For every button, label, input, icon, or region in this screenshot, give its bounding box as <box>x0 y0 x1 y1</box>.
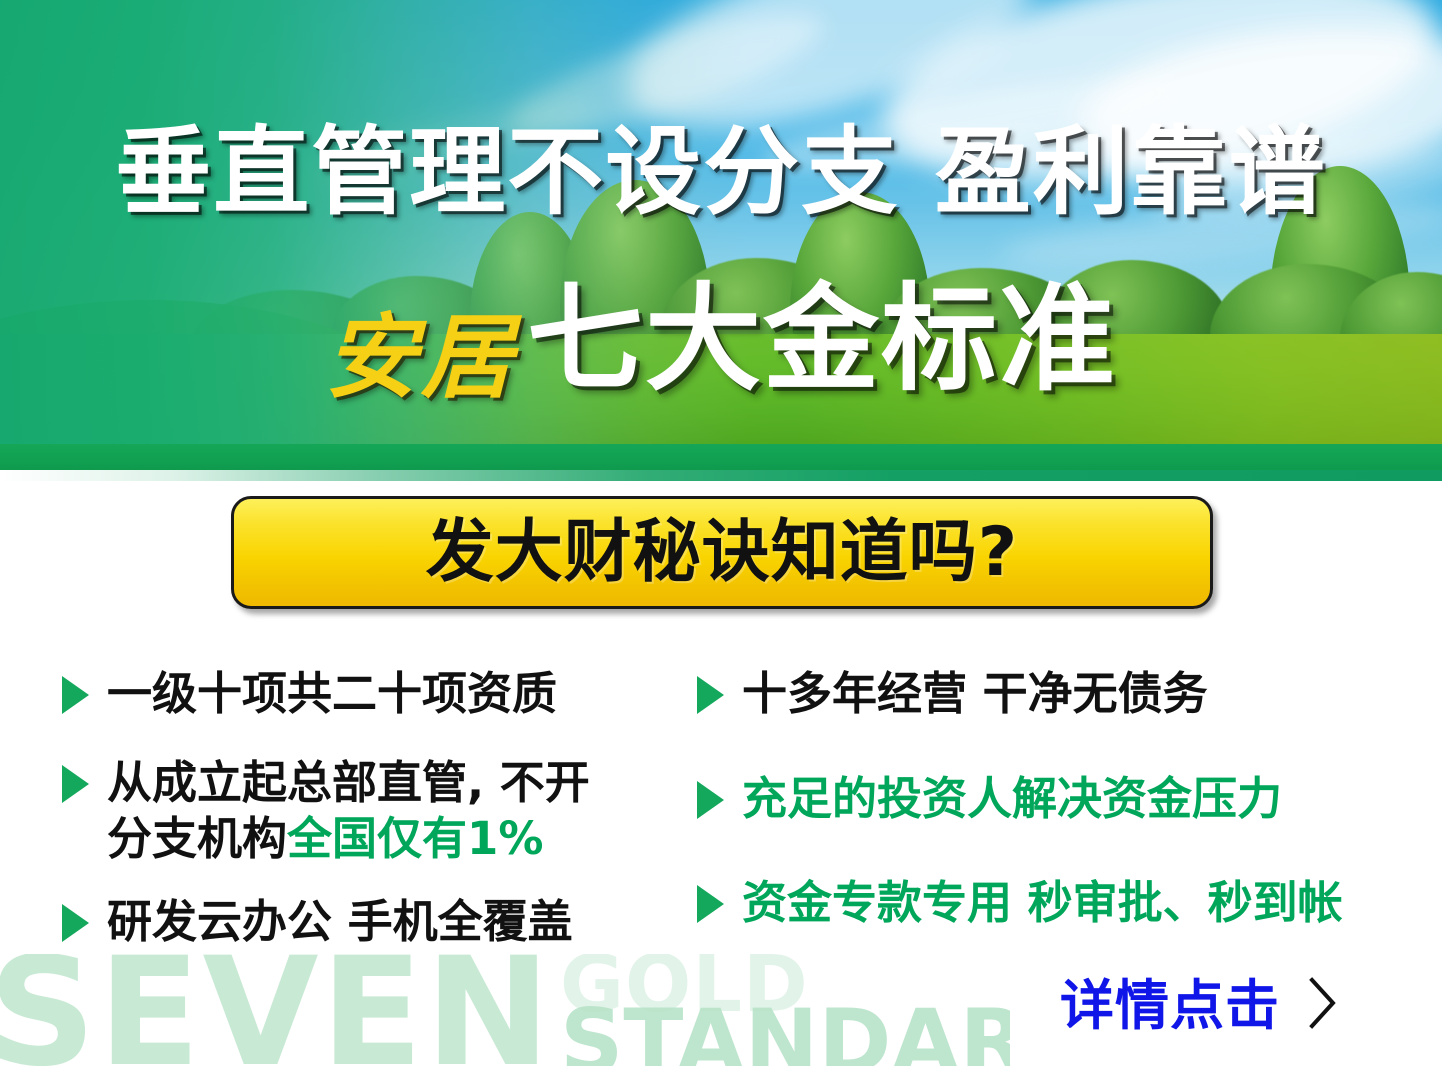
watermark-seven: SEVEN <box>0 954 553 1066</box>
hero-subtitle: 安居七大金标准 <box>0 282 1442 403</box>
triangle-bullet-icon <box>62 904 89 942</box>
hero-subtitle-main: 七大金标准 <box>527 272 1117 407</box>
list-item: 研发云办公 手机全覆盖 <box>62 894 702 951</box>
triangle-bullet-icon <box>62 676 89 714</box>
list-item: 从成立起总部直管, 不开 分支机构全国仅有1% <box>62 755 702 868</box>
list-item-label: 十多年经营 干净无债务 <box>742 666 1208 723</box>
list-item-label: 充足的投资人解决资金压力 <box>742 771 1282 828</box>
list-item: 十多年经营 干净无债务 <box>697 666 1397 723</box>
feature-list: 一级十项共二十项资质 从成立起总部直管, 不开 分支机构全国仅有1% 研发云办公… <box>0 666 1442 966</box>
feature-column-left: 一级十项共二十项资质 从成立起总部直管, 不开 分支机构全国仅有1% 研发云办公… <box>62 666 702 971</box>
highlight-banner-text: 发大财秘诀知道吗? <box>426 519 1018 587</box>
watermark: SEVEN GOLD STANDARDS <box>0 954 1010 1066</box>
triangle-bullet-icon <box>697 885 724 923</box>
list-item-label: 资金专款专用 秒审批、秒到帐 <box>742 875 1343 932</box>
list-item-label: 研发云办公 手机全覆盖 <box>107 894 573 951</box>
details-cta-label: 详情点击 <box>1060 979 1280 1033</box>
list-item: 资金专款专用 秒审批、秒到帐 <box>697 875 1397 932</box>
hero-subtitle-brand: 安居 <box>325 303 517 411</box>
highlight-banner: 发大财秘诀知道吗? <box>231 496 1213 609</box>
list-item-line1: 从成立起总部直管, 不开 <box>107 756 590 809</box>
list-item: 一级十项共二十项资质 <box>62 666 702 723</box>
watermark-standards: STANDARDS <box>560 998 1010 1066</box>
details-cta-button[interactable]: 详情点击 <box>1060 975 1340 1036</box>
list-item-label: 从成立起总部直管, 不开 分支机构全国仅有1% <box>107 755 590 868</box>
chevron-right-icon <box>1306 975 1340 1036</box>
feature-column-right: 十多年经营 干净无债务 充足的投资人解决资金压力 资金专款专用 秒审批、秒到帐 <box>697 666 1397 952</box>
hero-headline: 垂直管理不设分支 盈利靠谱 <box>0 124 1442 220</box>
list-item-line2-highlight: 全国仅有1% <box>287 812 543 865</box>
hero-bottom-band <box>0 444 1442 470</box>
list-item-label: 一级十项共二十项资质 <box>107 666 557 723</box>
list-item: 充足的投资人解决资金压力 <box>697 771 1397 828</box>
triangle-bullet-icon <box>697 676 724 714</box>
list-item-line2: 分支机构全国仅有1% <box>107 811 590 868</box>
hero-banner: 垂直管理不设分支 盈利靠谱 安居七大金标准 <box>0 0 1442 470</box>
triangle-bullet-icon <box>697 781 724 819</box>
triangle-bullet-icon <box>62 765 89 803</box>
list-item-line2-plain: 分支机构 <box>107 812 287 865</box>
banner-fade-strip <box>0 470 1442 481</box>
